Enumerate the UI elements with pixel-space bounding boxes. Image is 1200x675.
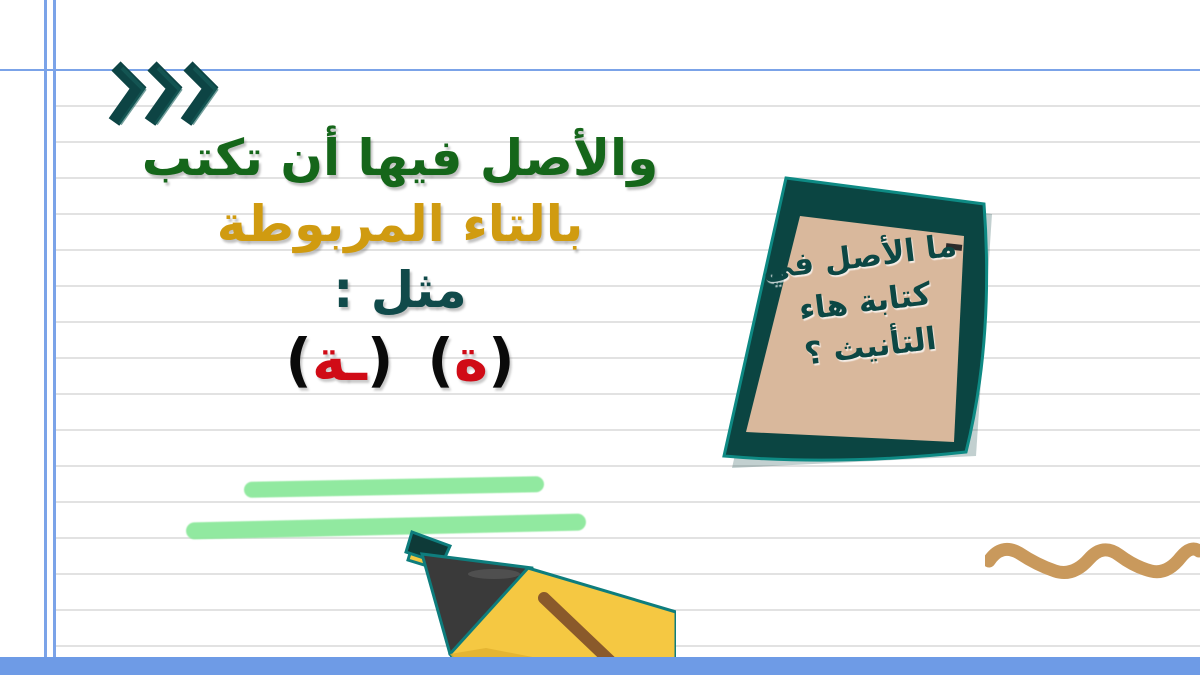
lesson-line-2: بالتاء المربوطة bbox=[120, 196, 680, 252]
lesson-line-1: والأصل فيها أن تكتب bbox=[120, 130, 680, 186]
paper-rule bbox=[53, 465, 1200, 467]
lesson-text-block: والأصل فيها أن تكتب بالتاء المربوطة مثل … bbox=[120, 130, 680, 394]
example-paren-open-2: ( bbox=[488, 326, 515, 394]
triple-chevron-icon bbox=[104, 58, 234, 128]
wavy-line-icon bbox=[985, 535, 1200, 591]
example-paren-open-1: ( bbox=[367, 326, 394, 394]
sticky-note[interactable] bbox=[718, 160, 998, 470]
paper-rule bbox=[53, 429, 1200, 431]
example-letter-2: ة bbox=[454, 326, 488, 394]
margin-line-outer bbox=[44, 0, 47, 675]
example-paren-close-2: ) bbox=[427, 326, 454, 394]
highlight-stroke-upper bbox=[244, 476, 544, 498]
example-paren-close-1: ) bbox=[285, 326, 312, 394]
highlighter-marker-icon bbox=[376, 520, 676, 675]
examples-row: (ة)(ـة) bbox=[120, 326, 680, 394]
slide-canvas: والأصل فيها أن تكتب بالتاء المربوطة مثل … bbox=[0, 0, 1200, 675]
lesson-line-3: مثل : bbox=[120, 262, 680, 318]
example-letter-1: ـة bbox=[312, 326, 367, 394]
paper-rule bbox=[53, 501, 1200, 503]
margin-line-inner bbox=[53, 0, 56, 675]
footer-bar bbox=[0, 657, 1200, 675]
